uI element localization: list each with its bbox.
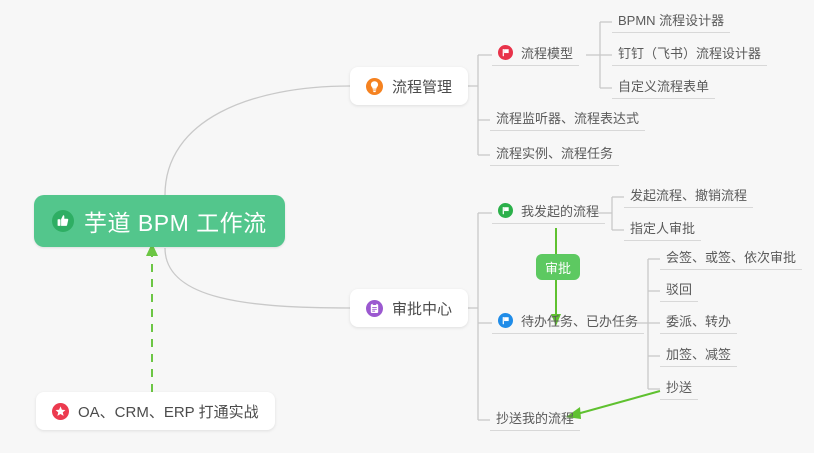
node-label-process-model: 流程模型 [521, 43, 573, 62]
cc-link-arrow [577, 391, 660, 414]
node-start-cancel-process[interactable]: 发起流程、撤销流程 [624, 186, 753, 208]
node-label-countersign-orsign-sequential: 会签、或签、依次审批 [666, 247, 796, 266]
node-label-custom-process-form: 自定义流程表单 [618, 76, 709, 95]
node-label-dingtalk-feishu-designer: 钉钉（飞书）流程设计器 [618, 43, 761, 62]
node-process-listener-expression[interactable]: 流程监听器、流程表达式 [490, 109, 645, 131]
node-label-my-initiated-processes: 我发起的流程 [521, 201, 599, 220]
branch-label-process-management: 流程管理 [392, 76, 452, 97]
node-label-todo-done-tasks: 待办任务、已办任务 [521, 311, 638, 330]
root-node[interactable]: 芋道 BPM 工作流 [34, 195, 285, 247]
node-todo-done-tasks[interactable]: 待办任务、已办任务 [492, 312, 644, 334]
flag-circle-icon [498, 45, 513, 60]
thumbs-up-circle-icon [52, 210, 74, 232]
approval-badge: 审批 [536, 254, 580, 280]
node-countersign-orsign-sequential[interactable]: 会签、或签、依次审批 [660, 248, 802, 270]
star-circle-icon [52, 403, 69, 420]
link-root-to-process-management [165, 86, 350, 195]
approval-badge-label: 审批 [545, 258, 571, 277]
node-label-bpmn-designer: BPMN 流程设计器 [618, 10, 724, 29]
node-label-process-listener-expression: 流程监听器、流程表达式 [496, 108, 639, 127]
node-carbon-copy[interactable]: 抄送 [660, 378, 698, 400]
node-label-assignee-approval: 指定人审批 [630, 218, 695, 237]
node-label-add-remove-sign: 加签、减签 [666, 344, 731, 363]
branch-node-approval-center[interactable]: 审批中心 [350, 289, 468, 327]
node-label-carbon-copy: 抄送 [666, 377, 692, 396]
node-label-delegate-transfer: 委派、转办 [666, 311, 731, 330]
node-label-start-cancel-process: 发起流程、撤销流程 [630, 185, 747, 204]
node-dingtalk-feishu-designer[interactable]: 钉钉（飞书）流程设计器 [612, 44, 767, 66]
node-reject[interactable]: 驳回 [660, 280, 698, 302]
node-assignee-approval[interactable]: 指定人审批 [624, 219, 701, 241]
node-add-remove-sign[interactable]: 加签、减签 [660, 345, 737, 367]
flag-circle-icon [498, 313, 513, 328]
node-my-initiated-processes[interactable]: 我发起的流程 [492, 202, 605, 224]
clipboard-circle-icon [366, 300, 383, 317]
node-process-model[interactable]: 流程模型 [492, 44, 579, 66]
mindmap-canvas: 芋道 BPM 工作流 流程管理 流程模型 BPMN 流程设计器 钉钉（飞书）流 [0, 0, 814, 453]
node-label-process-instance-task: 流程实例、流程任务 [496, 143, 613, 162]
node-delegate-transfer[interactable]: 委派、转办 [660, 312, 737, 334]
integration-note-node[interactable]: OA、CRM、ERP 打通实战 [36, 392, 275, 430]
node-custom-process-form[interactable]: 自定义流程表单 [612, 77, 715, 99]
node-process-instance-task[interactable]: 流程实例、流程任务 [490, 144, 619, 166]
root-label: 芋道 BPM 工作流 [84, 204, 267, 238]
link-root-to-approval-center [165, 248, 350, 308]
node-bpmn-designer[interactable]: BPMN 流程设计器 [612, 11, 730, 33]
node-cc-to-me-processes[interactable]: 抄送我的流程 [490, 409, 580, 431]
branch-label-approval-center: 审批中心 [392, 298, 452, 319]
integration-note-label: OA、CRM、ERP 打通实战 [78, 401, 259, 422]
node-label-cc-to-me-processes: 抄送我的流程 [496, 408, 574, 427]
flag-circle-icon [498, 203, 513, 218]
lightbulb-circle-icon [366, 78, 383, 95]
branch-node-process-management[interactable]: 流程管理 [350, 67, 468, 105]
node-label-reject: 驳回 [666, 279, 692, 298]
